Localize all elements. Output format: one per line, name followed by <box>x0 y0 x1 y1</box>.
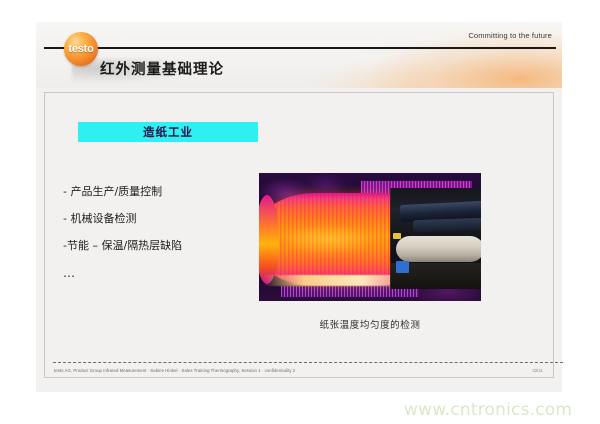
list-item: … <box>63 266 273 280</box>
presentation-slide: Committing to the future testo 红外测量基础理论 … <box>36 22 562 392</box>
header-divider-rule <box>44 47 556 49</box>
inset-paper-roller <box>396 236 481 262</box>
inset-yellow-marker <box>393 233 401 239</box>
testo-logo-icon: testo <box>64 32 98 66</box>
visible-light-inset-photo <box>390 188 481 289</box>
logo-wordmark: testo <box>64 43 98 55</box>
list-item: - 产品生产/质量控制 <box>63 185 273 199</box>
company-tagline: Committing to the future <box>468 31 552 40</box>
thermal-image-paper-roll <box>259 173 481 301</box>
footer-text: testo AG, Product Group Infrared Measure… <box>54 368 295 373</box>
footer-divider-rule <box>53 362 563 363</box>
list-item: - 机械设备检测 <box>63 212 273 226</box>
slide-header: Committing to the future testo 红外测量基础理论 <box>36 22 562 88</box>
slide-content-box: 造纸工业 - 产品生产/质量控制 - 机械设备检测 -节能 – 保温/隔热层缺陷… <box>44 92 554 378</box>
figure-caption: 纸张温度均匀度的检测 <box>259 317 481 331</box>
list-item: -节能 – 保温/隔热层缺陷 <box>63 239 273 253</box>
footer-page-number: 02/21 <box>533 368 543 373</box>
section-banner: 造纸工业 <box>78 122 258 142</box>
page-title: 红外测量基础理论 <box>100 58 224 79</box>
site-watermark: www.cntronics.com <box>404 400 572 420</box>
inset-machine-bar-secondary <box>413 217 481 232</box>
thermal-image-figure <box>259 173 481 301</box>
thermal-roll-highlight <box>267 221 389 258</box>
inset-blue-marker <box>396 261 409 273</box>
bullet-list: - 产品生产/质量控制 - 机械设备检测 -节能 – 保温/隔热层缺陷 … <box>63 185 273 293</box>
section-banner-label: 造纸工业 <box>143 124 193 140</box>
